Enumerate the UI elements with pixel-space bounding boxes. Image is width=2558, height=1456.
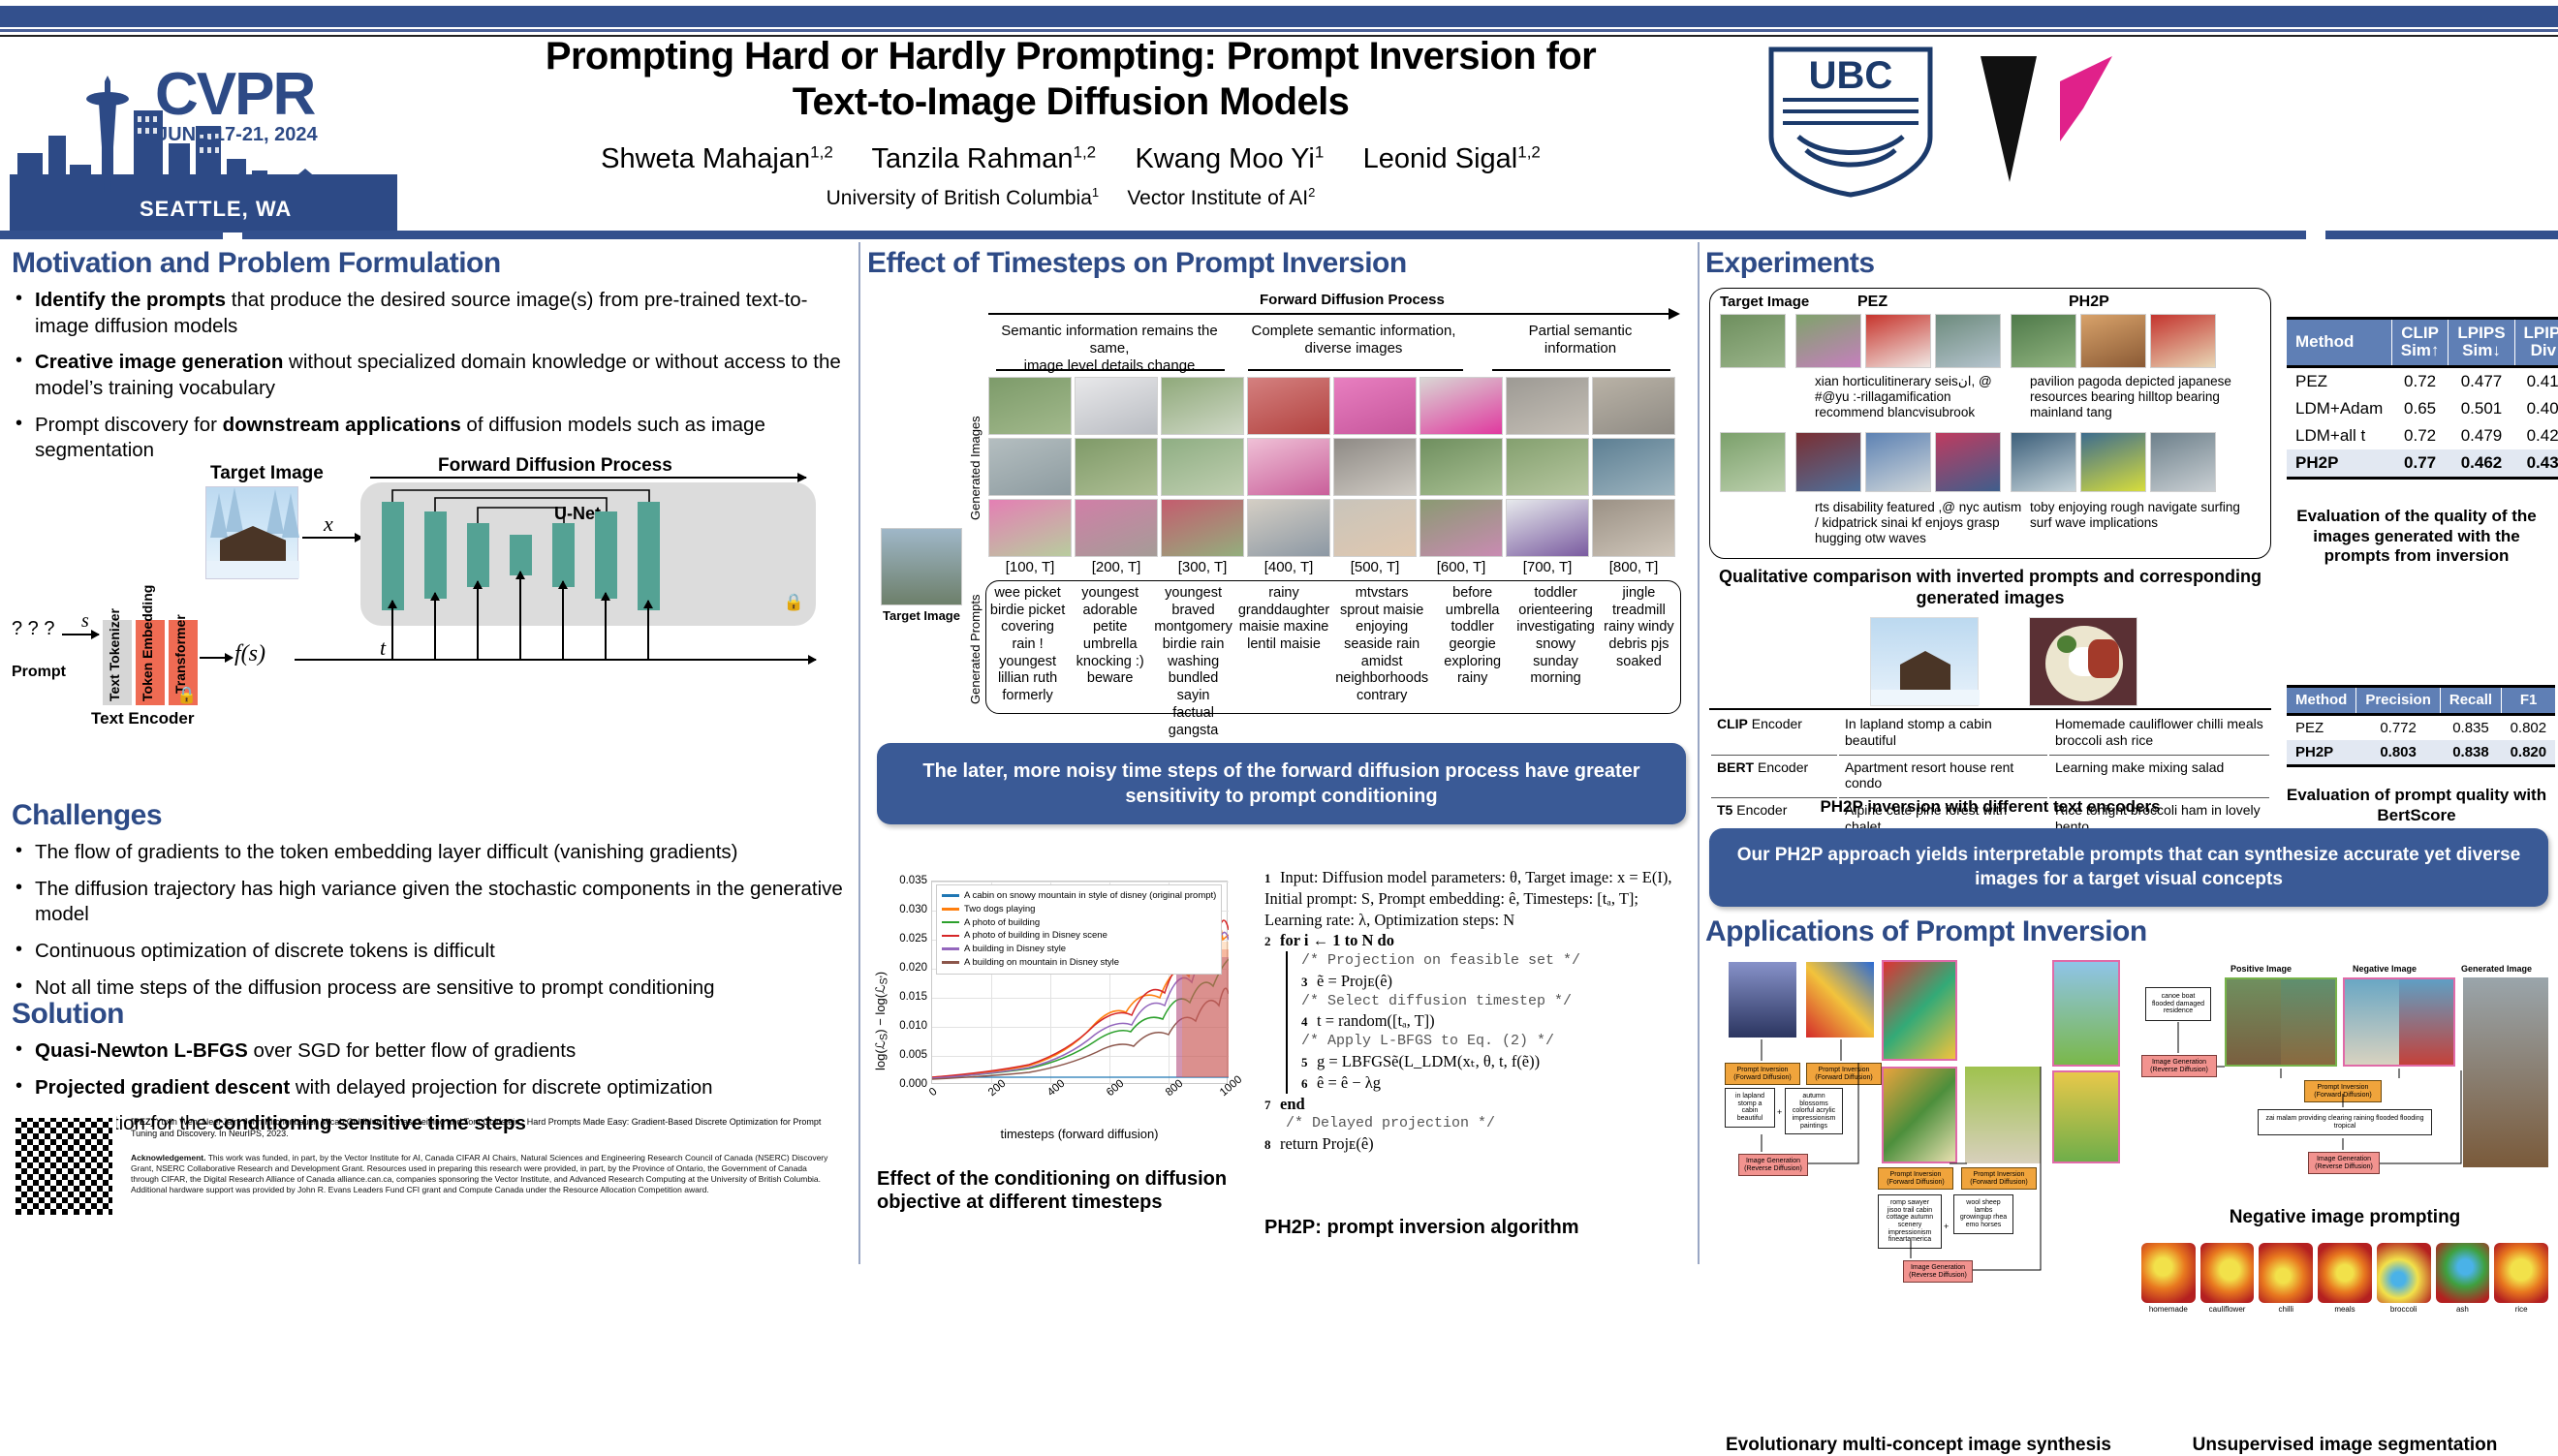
cond-arrow-4 xyxy=(562,581,564,659)
algo-comment: /* Select diffusion timestep */ xyxy=(1301,992,1691,1011)
cvpr-city: SEATTLE, WA xyxy=(126,194,305,225)
qual-row-1-images xyxy=(1720,314,2216,368)
generated-prompts-row-label: Generated Prompts xyxy=(968,584,983,715)
bertscore-table: Method Precision Recall F1 PEZ 0.772 0.8… xyxy=(2287,685,2555,767)
legend-item: A building in Disney style xyxy=(942,943,1216,956)
symbol-s: s xyxy=(81,610,89,633)
cond-arrow-0 xyxy=(391,601,393,659)
experiments-heading: Experiments xyxy=(1705,247,2548,280)
vector-institute-logo xyxy=(1967,48,2122,194)
list-item: Projected gradient descent with delayed … xyxy=(12,1075,855,1101)
segmentation-cell: rice xyxy=(2494,1243,2548,1314)
evolutionary-caption: Evolutionary multi-concept image synthes… xyxy=(1705,1434,2132,1456)
generated-prompt: wee picket birdie picket covering rain !… xyxy=(986,581,1069,743)
affiliation-1: Vector Institute of AI2 xyxy=(1127,187,1315,209)
pez-thumb xyxy=(1935,432,2001,492)
tick-label: [400, T] xyxy=(1247,559,1330,575)
text-tokenizer-block: Text Tokenizer xyxy=(103,620,132,705)
legend-item: A building on mountain in Disney style xyxy=(942,956,1216,970)
generated-images-row-label: Generated Images xyxy=(968,379,983,558)
prompt-label: Prompt xyxy=(12,664,66,681)
generated-image xyxy=(1333,377,1417,435)
y-tick: 0.030 xyxy=(883,904,927,915)
arrow-x-to-unet xyxy=(302,537,362,539)
target-thumb xyxy=(1720,314,1786,368)
col-f1: F1 xyxy=(2502,687,2556,715)
generated-image xyxy=(1506,438,1589,496)
segmentation-cell: chilli xyxy=(2259,1243,2313,1314)
algo-line-3: 3ẽ = Projᴇ(ê) xyxy=(1301,971,1691,992)
generated-image xyxy=(1247,499,1330,557)
list-item: Identify the prompts that produce the de… xyxy=(12,288,855,339)
cond-arrow-6 xyxy=(647,601,649,659)
phase-range-0 xyxy=(996,369,1225,371)
food-image xyxy=(2029,617,2137,706)
table-header-row: Method Precision Recall F1 xyxy=(2287,687,2555,715)
algo-line-8: 8return Projᴇ(ê) xyxy=(1264,1133,1691,1155)
generated-image xyxy=(1075,499,1158,557)
author-list: Shweta Mahajan1,2 Tanzila Rahman1,2 Kwan… xyxy=(407,142,1734,175)
ph2p-caption-1: pavilion pagoda depicted japanese resour… xyxy=(2030,374,2262,421)
col-precision: Precision xyxy=(2356,687,2441,715)
phase-label-1: Complete semantic information, diverse i… xyxy=(1242,323,1465,357)
evolutionary-synthesis-diagram: Prompt Inversion (Forward Diffusion) Pro… xyxy=(1711,962,2118,1427)
tick-label: [800, T] xyxy=(1592,559,1675,575)
generated-prompt: mtvstars sprout maisie enjoying seaside … xyxy=(1332,581,1431,743)
affiliation-0: University of British Columbia1 xyxy=(827,187,1100,209)
target-image-label: Target Image xyxy=(881,608,962,623)
diffusion-objective-chart: log(ℒS) − log(ℒS') xyxy=(877,867,1245,1158)
y-tick: 0.010 xyxy=(883,1020,927,1032)
top-accent-bar-secondary xyxy=(0,29,2558,32)
segmentation-cell: cauliflower xyxy=(2200,1243,2255,1314)
phase-label-row: Semantic information remains the same, i… xyxy=(988,323,1678,371)
column-divider-2 xyxy=(1698,242,1700,1264)
tick-label: [700, T] xyxy=(1506,559,1589,575)
pez-label: PEZ xyxy=(1857,294,1887,311)
pez-thumb xyxy=(1865,432,1931,492)
lock-icon: 🔒 xyxy=(176,686,197,705)
generated-image xyxy=(1161,377,1244,435)
generated-image xyxy=(1333,499,1417,557)
table-row: BERT Encoder Apartment resort house rent… xyxy=(1711,755,2269,796)
generated-image xyxy=(1075,438,1158,496)
middle-column: Effect of Timesteps on Prompt Inversion … xyxy=(867,247,1696,288)
right-column: Experiments Target Image PEZ PH2P xian h… xyxy=(1705,247,2548,288)
poster-title-line2: Text-to-Image Diffusion Models xyxy=(407,79,1734,125)
unet-skip-connections xyxy=(360,482,816,626)
pez-caption-2: rts disability featured ,@ nyc autism / … xyxy=(1815,500,2023,547)
tick-label: [300, T] xyxy=(1161,559,1244,575)
poster-header: CVPR JUNE 17-21, 2024 SEATTLE, WA Prompt… xyxy=(0,39,2558,232)
conditioning-bus xyxy=(295,659,816,661)
transformer-label: Transformer xyxy=(172,624,188,694)
pez-thumb xyxy=(1795,432,1861,492)
column-divider-1 xyxy=(858,242,860,1264)
encoder-table-caption: PH2P inversion with different text encod… xyxy=(1709,797,2271,818)
top-accent-bar xyxy=(0,6,2558,27)
ph2p-thumb xyxy=(2150,314,2216,368)
tick-label: [100, T] xyxy=(988,559,1072,575)
generated-image xyxy=(1161,438,1244,496)
generated-prompt: toddler orienteering investigating snowy… xyxy=(1513,581,1598,743)
list-item: Continuous optimization of discrete toke… xyxy=(12,939,855,965)
col-clip-sim: CLIP Sim↑ xyxy=(2391,319,2449,367)
generated-prompt: jingle treadmill rainy windy debris pjs … xyxy=(1598,581,1680,743)
forward-diffusion-arrow xyxy=(370,477,806,479)
target-image-label: Target Image xyxy=(210,463,324,484)
challenges-bullets: The flow of gradients to the token embed… xyxy=(12,840,855,1001)
evo-connectors xyxy=(1711,962,2118,1291)
unet-container: U-Net 🔒 xyxy=(360,482,816,626)
table-header-row: Method CLIP Sim↑ LPIPS Sim↓ LPIPS Div↑ xyxy=(2287,319,2558,367)
target-image-label: Target Image xyxy=(1720,294,1809,310)
algo-line-5: 5g = LBFGSẽ(L_LDM(xₜ, θ, t, f(ẽ)) xyxy=(1301,1051,1691,1072)
ubc-logo: UBC xyxy=(1763,44,1938,199)
forward-axis xyxy=(988,313,1678,315)
generated-prompt: youngest adorable petite umbrella knocki… xyxy=(1069,581,1151,743)
y-tick: 0.000 xyxy=(883,1078,927,1090)
algo-line-2: 2for i ← 1 to N do xyxy=(1264,930,1691,951)
generated-image xyxy=(1419,377,1503,435)
applications-heading: Applications of Prompt Inversion xyxy=(1705,915,2147,948)
table-row: PEZ 0.72 0.477 0.417 xyxy=(2287,366,2558,395)
table1-caption: Evaluation of the quality of the images … xyxy=(2285,507,2548,567)
table-row: PH2P 0.77 0.462 0.435 xyxy=(2287,449,2558,479)
col-lpips-div: LPIPS Div↑ xyxy=(2514,319,2558,367)
generated-images-grid xyxy=(988,377,1675,557)
method-diagram: Forward Diffusion Process Target Image ?… xyxy=(12,455,855,746)
segmentation-cell: broccoli xyxy=(2377,1243,2431,1314)
symbol-t: t xyxy=(380,635,386,661)
generated-image xyxy=(988,438,1072,496)
qualitative-comparison-box: Target Image PEZ PH2P xian horticulitine… xyxy=(1709,288,2271,559)
generated-image xyxy=(1333,438,1417,496)
y-tick: 0.005 xyxy=(883,1049,927,1061)
phase-label-0: Semantic information remains the same, i… xyxy=(988,323,1231,375)
generated-image xyxy=(1592,377,1675,435)
list-item: Quasi-Newton L-BFGS over SGD for better … xyxy=(12,1038,855,1065)
cond-arrow-2 xyxy=(477,581,479,659)
generated-prompt: rainy granddaughter maisie maxine lentil… xyxy=(1235,581,1332,743)
col-method: Method xyxy=(2287,319,2391,367)
forward-axis-arrowhead xyxy=(1669,308,1680,320)
ph2p-thumb xyxy=(2080,314,2146,368)
negative-prompting-diagram: Positive Image Negative Image Generated … xyxy=(2141,964,2548,1196)
segmentation-strip: homemade cauliflower chilli meals brocco… xyxy=(2141,1243,2548,1314)
qualitative-caption: Qualitative comparison with inverted pro… xyxy=(1709,567,2271,609)
solution-heading: Solution xyxy=(12,998,855,1031)
list-item: The flow of gradients to the token embed… xyxy=(12,840,855,866)
author-0: Shweta Mahajan1,2 xyxy=(601,143,833,174)
motivation-heading: Motivation and Problem Formulation xyxy=(12,247,855,280)
cvpr-date: JUNE 17-21, 2024 xyxy=(157,124,318,146)
transformer-block: Transformer 🔒 xyxy=(169,620,198,705)
list-item: The diffusion trajectory has high varian… xyxy=(12,877,855,928)
cond-arrow-3 xyxy=(519,572,521,659)
tick-label: [600, T] xyxy=(1419,559,1503,575)
algorithm-caption: PH2P: prompt inversion algorithm xyxy=(1264,1216,1671,1239)
algo-line-6: 6ê = ê − λg xyxy=(1301,1072,1691,1094)
timesteps-heading: Effect of Timesteps on Prompt Inversion xyxy=(867,247,1696,280)
author-3: Leonid Sigal1,2 xyxy=(1363,143,1541,174)
token-embedding-block: Token Embedding xyxy=(136,620,165,705)
algo-comment: /* Projection on feasible set */ xyxy=(1301,951,1691,971)
generated-image xyxy=(1075,377,1158,435)
prompt-placeholder: ? ? ? xyxy=(12,618,54,640)
text-encoder-label: Text Encoder xyxy=(91,709,194,728)
generated-image xyxy=(1592,438,1675,496)
encoder-example-images xyxy=(1870,617,2137,706)
ph2p-thumb xyxy=(2080,432,2146,492)
algo-line-7: 7end xyxy=(1264,1094,1691,1115)
cvpr-logo: CVPR JUNE 17-21, 2024 SEATTLE, WA xyxy=(10,39,397,232)
generated-image xyxy=(1419,438,1503,496)
timestep-ticks: [100, T] [200, T] [300, T] [400, T] [500… xyxy=(988,559,1675,575)
author-2: Kwang Moo Yi1 xyxy=(1135,143,1324,174)
generated-image xyxy=(1247,377,1330,435)
cvpr-wordmark: CVPR xyxy=(155,60,314,129)
phase-range-2 xyxy=(1492,369,1670,371)
col-lpips-sim: LPIPS Sim↓ xyxy=(2449,319,2514,367)
algo-line-4: 4t = random([tₐ, T]) xyxy=(1301,1010,1691,1032)
algo-comment: /* Apply L-BFGS to Eq. (2) */ xyxy=(1301,1032,1691,1051)
challenges-block: Challenges The flow of gradients to the … xyxy=(12,799,855,1011)
cabin-image xyxy=(1870,617,1979,706)
table-row: PEZ 0.772 0.835 0.802 xyxy=(2287,715,2555,741)
pez-caption-1: xian horticulitinerary seisان, @ #@yu :-… xyxy=(1815,374,2013,421)
generated-prompt: before umbrella toddler georgie explorin… xyxy=(1431,581,1513,743)
ph2p-thumb xyxy=(2150,432,2216,492)
chart-plot-area: A cabin on snowy mountain in style of di… xyxy=(931,881,1228,1084)
table-row: CLIP Encoder In lapland stomp a cabin be… xyxy=(1711,712,2269,753)
motivation-bullets: Identify the prompts that produce the de… xyxy=(12,288,855,464)
author-1: Tanzila Rahman1,2 xyxy=(872,143,1097,174)
timesteps-callout: The later, more noisy time steps of the … xyxy=(877,743,1686,824)
table2-caption: Evaluation of prompt quality with BertSc… xyxy=(2285,786,2548,825)
segmentation-cell: homemade xyxy=(2141,1243,2196,1314)
pez-thumb xyxy=(1795,314,1861,368)
affiliation-list: University of British Columbia1 Vector I… xyxy=(407,185,1734,210)
phase-label-2: Partial semantic information xyxy=(1488,323,1672,357)
symbol-fs: f(s) xyxy=(234,641,265,667)
algo-line-1: 1Input: Diffusion model parameters: θ, T… xyxy=(1264,867,1691,930)
table-row: LDM+all t 0.72 0.479 0.423 xyxy=(2287,422,2558,449)
tick-label: [200, T] xyxy=(1075,559,1158,575)
quality-metrics-table: Method CLIP Sim↑ LPIPS Sim↓ LPIPS Div↑ P… xyxy=(2287,317,2558,480)
encoder-prompt: Learning make mixing salad xyxy=(2049,755,2269,796)
encoder-prompt: Homemade cauliflower chilli meals brocco… xyxy=(2049,712,2269,753)
x-tick: 0 xyxy=(927,1086,940,1099)
experiments-callout: Our PH2P approach yields interpretable p… xyxy=(1709,828,2548,907)
arrow-s-to-encoder xyxy=(62,634,99,635)
ph2p-label: PH2P xyxy=(2069,294,2109,311)
target-image-thumb xyxy=(205,486,298,579)
segmentation-caption: Unsupervised image segmentation xyxy=(2141,1434,2548,1456)
encoder-prompt: In lapland stomp a cabin beautiful xyxy=(1839,712,2047,753)
header-rule-right xyxy=(2325,231,2558,239)
ph2p-thumb xyxy=(2011,314,2076,368)
generated-image xyxy=(1506,499,1589,557)
negative-prompting-caption: Negative image prompting xyxy=(2141,1206,2548,1228)
legend-item: Two dogs playing xyxy=(942,903,1216,916)
reference-note: [PEZ] Yuxin Wen, Neel Jain, John Kirchen… xyxy=(131,1116,828,1139)
y-tick: 0.025 xyxy=(883,933,927,945)
chart-legend: A cabin on snowy mountain in style of di… xyxy=(936,884,1222,975)
cond-arrow-1 xyxy=(434,593,436,659)
y-tick: 0.020 xyxy=(883,962,927,974)
symbol-x: x xyxy=(324,511,333,537)
generated-image xyxy=(1247,438,1330,496)
poster-title-line1: Prompting Hard or Hardly Prompting: Prom… xyxy=(407,34,1734,79)
neg-connectors xyxy=(2141,964,2548,1187)
pez-thumb xyxy=(1935,314,2001,368)
chart-caption: Effect of the conditioning on diffusion … xyxy=(877,1167,1235,1215)
ph2p-caption-2: toby enjoying rough navigate surfing sur… xyxy=(2030,500,2262,531)
segmentation-cell: ash xyxy=(2436,1243,2490,1314)
algo-body: /* Projection on feasible set */ 3ẽ = Pr… xyxy=(1286,951,1691,1093)
algorithm-block: 1Input: Diffusion model parameters: θ, T… xyxy=(1264,867,1691,1155)
target-thumb xyxy=(1720,432,1786,492)
generated-image xyxy=(1506,377,1589,435)
table-row: PH2P 0.803 0.838 0.820 xyxy=(2287,740,2555,766)
acknowledgement-note: Acknowledgement. This work was funded, i… xyxy=(131,1153,828,1195)
left-column: Motivation and Problem Formulation Ident… xyxy=(12,247,855,475)
token-embedding-label: Token Embedding xyxy=(140,624,155,701)
chart-xlabel: timesteps (forward diffusion) xyxy=(931,1127,1228,1141)
col-recall: Recall xyxy=(2440,687,2501,715)
encoder-name: CLIP Encoder xyxy=(1711,712,1837,753)
title-block: Prompting Hard or Hardly Prompting: Prom… xyxy=(407,34,1734,210)
algo-comment: /* Delayed projection */ xyxy=(1286,1114,1691,1133)
generated-image xyxy=(1419,499,1503,557)
segmentation-cell: meals xyxy=(2318,1243,2372,1314)
generated-image xyxy=(988,377,1072,435)
pez-thumb xyxy=(1865,314,1931,368)
encoder-comparison-table: CLIP Encoder In lapland stomp a cabin be… xyxy=(1709,708,2271,843)
chart-ylabel: log(ℒS) − log(ℒS') xyxy=(873,896,890,1070)
arrow-encoder-to-fs xyxy=(200,657,233,659)
forward-diffusion-label: Forward Diffusion Process xyxy=(1260,292,1445,308)
legend-item: A photo of building xyxy=(942,916,1216,930)
generated-prompt: youngest braved montgomery birdie rain w… xyxy=(1151,581,1235,743)
col-method: Method xyxy=(2287,687,2356,715)
cond-arrow-5 xyxy=(605,593,607,659)
legend-item: A photo of building in Disney scene xyxy=(942,929,1216,943)
y-tick: 0.035 xyxy=(883,875,927,886)
generated-prompts-box: wee picket birdie picket covering rain !… xyxy=(985,580,1681,714)
tick-label: [500, T] xyxy=(1333,559,1417,575)
encoder-name: BERT Encoder xyxy=(1711,755,1837,796)
y-tick: 0.015 xyxy=(883,991,927,1003)
text-tokenizer-label: Text Tokenizer xyxy=(107,624,122,701)
qr-code[interactable] xyxy=(12,1114,116,1219)
qual-row-2-images xyxy=(1720,432,2216,492)
header-rule-left xyxy=(0,231,223,239)
timesteps-target-image: Target Image xyxy=(881,528,962,623)
svg-text:UBC: UBC xyxy=(1809,54,1893,97)
phase-range-1 xyxy=(1248,369,1463,371)
ph2p-thumb xyxy=(2011,432,2076,492)
table-row: LDM+Adam 0.65 0.501 0.400 xyxy=(2287,395,2558,422)
legend-item: A cabin on snowy mountain in style of di… xyxy=(942,889,1216,903)
challenges-heading: Challenges xyxy=(12,799,855,832)
generated-image xyxy=(988,499,1072,557)
generated-image xyxy=(1592,499,1675,557)
generated-image xyxy=(1161,499,1244,557)
list-item: Creative image generation without specia… xyxy=(12,350,855,401)
encoder-prompt: Apartment resort house rent condo xyxy=(1839,755,2047,796)
forward-diffusion-label: Forward Diffusion Process xyxy=(438,455,672,477)
header-rule-mid xyxy=(242,231,2306,239)
